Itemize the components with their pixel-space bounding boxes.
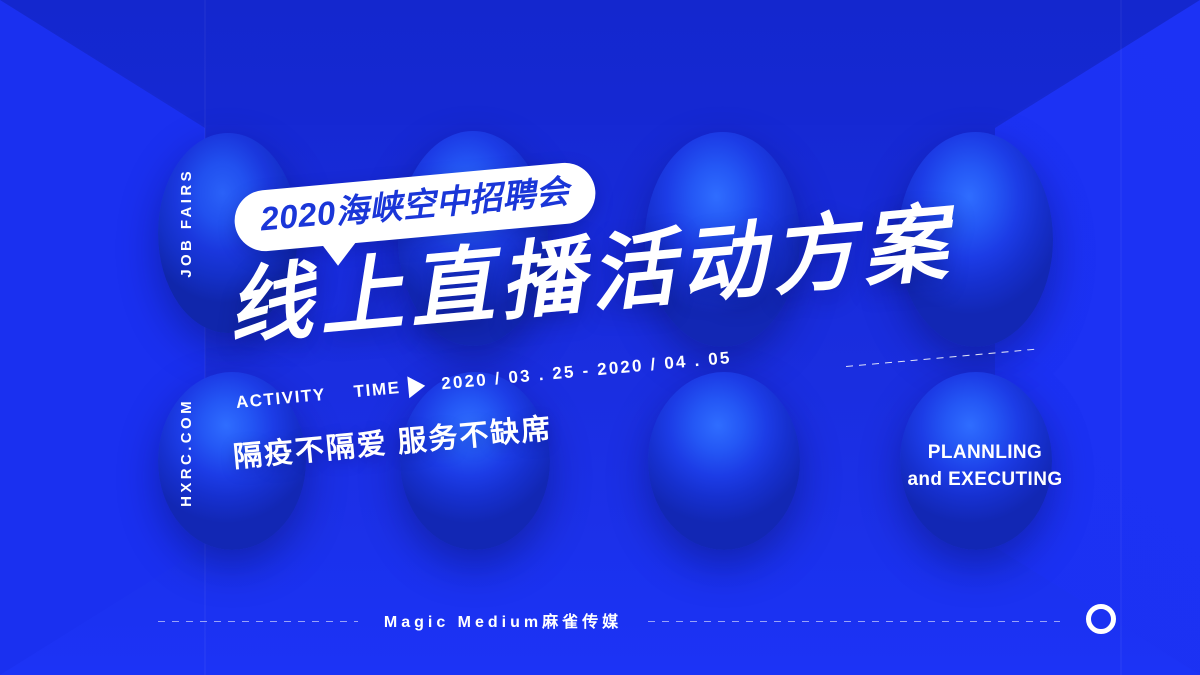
play-triangle-icon [408, 375, 427, 398]
planning-line: PLANNLING [905, 440, 1065, 467]
planning-executing-block: PLANNLING and EXECUTING [905, 440, 1065, 494]
sphere-bottom-3 [648, 372, 800, 550]
presentation-slide: JOB FAIRS HXRC.COM 2020海峡空中招聘会 线上直播活动方案 … [0, 0, 1200, 675]
sphere-bottom-2 [400, 372, 550, 550]
footer-rule-left [158, 621, 358, 622]
footer-brand-text: Magic Medium麻雀传媒 [358, 608, 648, 632]
wall-seam-left [204, 0, 206, 675]
side-label-job-fairs: JOB FAIRS [178, 168, 195, 278]
side-label-hxrc-com: HXRC.COM [178, 398, 195, 507]
executing-line: and EXECUTING [905, 467, 1065, 494]
time-label: TIME [353, 378, 402, 402]
circle-outline-icon [1086, 604, 1116, 634]
spacer [326, 392, 354, 395]
wall-seam-right [1120, 0, 1122, 675]
footer-rule-right [648, 621, 1060, 622]
